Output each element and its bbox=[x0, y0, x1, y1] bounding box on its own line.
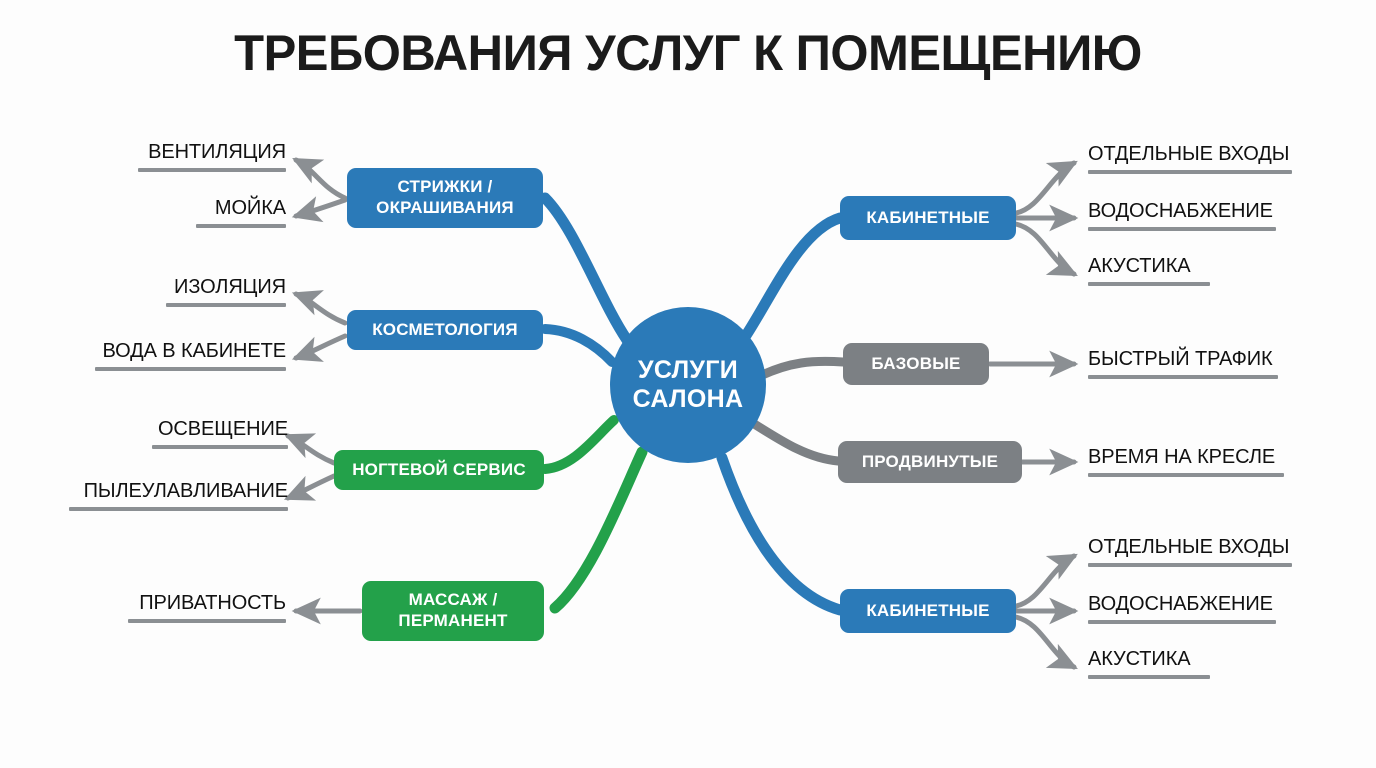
center-node-line2: САЛОНА bbox=[633, 385, 744, 415]
leaf-underline bbox=[95, 367, 286, 371]
leaf-label: ОСВЕЩЕНИЕ bbox=[152, 419, 288, 440]
leaf-underline bbox=[1088, 227, 1276, 231]
leaf-separate-entrances-top[interactable]: ОТДЕЛЬНЫЕ ВХОДЫ bbox=[1088, 144, 1292, 174]
leaf-underline bbox=[1088, 473, 1284, 477]
trunk-right-advanced bbox=[748, 420, 838, 461]
branch-node-massage[interactable]: МАССАЖ / ПЕРМАНЕНТ bbox=[362, 581, 544, 641]
leaf-washing[interactable]: МОЙКА bbox=[196, 198, 286, 228]
leaf-label: МОЙКА bbox=[196, 198, 286, 219]
leaf-fast-traffic[interactable]: БЫСТРЫЙ ТРАФИК bbox=[1088, 349, 1278, 379]
leaf-label: ИЗОЛЯЦИЯ bbox=[166, 277, 286, 298]
leaf-lighting[interactable]: ОСВЕЩЕНИЕ bbox=[152, 419, 288, 449]
trunk-right-basic bbox=[760, 361, 843, 376]
trunk-left-haircut bbox=[545, 198, 627, 340]
mindmap-canvas: ТРЕБОВАНИЯ УСЛУГ К ПОМЕЩЕНИЮ bbox=[0, 0, 1376, 768]
leaf-water-in-room[interactable]: ВОДА В КАБИНЕТЕ bbox=[95, 341, 286, 371]
leaf-label: ПРИВАТНОСТЬ bbox=[128, 593, 286, 614]
branch-node-nails[interactable]: НОГТЕВОЙ СЕРВИС bbox=[334, 450, 544, 490]
leaf-water-supply-bottom[interactable]: ВОДОСНАБЖЕНИЕ bbox=[1088, 594, 1276, 624]
branch-node-cabinet-bottom[interactable]: КАБИНЕТНЫЕ bbox=[840, 589, 1016, 633]
trunk-right-cabinet-bottom bbox=[722, 458, 840, 610]
leaf-acoustics-top[interactable]: АКУСТИКА bbox=[1088, 256, 1210, 286]
leaf-underline bbox=[1088, 170, 1292, 174]
branch-node-cosmetology[interactable]: КОСМЕТОЛОГИЯ bbox=[347, 310, 543, 350]
leaf-dust-collection[interactable]: ПЫЛЕУЛАВЛИВАНИЕ bbox=[69, 481, 288, 511]
leaf-label: ВОДОСНАБЖЕНИЕ bbox=[1088, 594, 1276, 615]
leaf-label: БЫСТРЫЙ ТРАФИК bbox=[1088, 349, 1278, 370]
trunk-right-cabinet-top bbox=[745, 218, 840, 337]
leaf-arrows-haircut bbox=[296, 160, 345, 216]
branch-node-haircut[interactable]: СТРИЖКИ / ОКРАШИВАНИЯ bbox=[347, 168, 543, 228]
leaf-arrows-nails bbox=[288, 436, 334, 498]
branch-node-basic[interactable]: БАЗОВЫЕ bbox=[843, 343, 989, 385]
leaf-label: ОТДЕЛЬНЫЕ ВХОДЫ bbox=[1088, 537, 1292, 558]
leaf-arrows-cabinet-bottom bbox=[1016, 556, 1074, 667]
leaf-underline bbox=[1088, 620, 1276, 624]
leaf-privacy[interactable]: ПРИВАТНОСТЬ bbox=[128, 593, 286, 623]
leaf-underline bbox=[196, 224, 286, 228]
leaf-label: ВРЕМЯ НА КРЕСЛЕ bbox=[1088, 447, 1284, 468]
branch-node-advanced[interactable]: ПРОДВИНУТЫЕ bbox=[838, 441, 1022, 483]
leaf-label: ВОДОСНАБЖЕНИЕ bbox=[1088, 201, 1276, 222]
leaf-water-supply-top[interactable]: ВОДОСНАБЖЕНИЕ bbox=[1088, 201, 1276, 231]
leaf-isolation[interactable]: ИЗОЛЯЦИЯ bbox=[166, 277, 286, 307]
leaf-underline bbox=[166, 303, 286, 307]
leaf-ventilation[interactable]: ВЕНТИЛЯЦИЯ bbox=[138, 142, 286, 172]
leaf-underline bbox=[128, 619, 286, 623]
trunk-left-cosmetology bbox=[545, 329, 612, 362]
leaf-underline bbox=[152, 445, 288, 449]
leaf-label: АКУСТИКА bbox=[1088, 256, 1210, 277]
leaf-label: АКУСТИКА bbox=[1088, 649, 1210, 670]
leaf-arrows-cosmetology bbox=[296, 294, 345, 358]
center-node-line1: УСЛУГИ bbox=[638, 356, 738, 386]
leaf-label: ПЫЛЕУЛАВЛИВАНИЕ bbox=[69, 481, 288, 502]
leaf-underline bbox=[1088, 282, 1210, 286]
leaf-label: ВОДА В КАБИНЕТЕ bbox=[95, 341, 286, 362]
leaf-label: ОТДЕЛЬНЫЕ ВХОДЫ bbox=[1088, 144, 1292, 165]
leaf-arrows-cabinet-top bbox=[1016, 163, 1074, 274]
leaf-underline bbox=[1088, 675, 1210, 679]
branch-node-cabinet-top[interactable]: КАБИНЕТНЫЕ bbox=[840, 196, 1016, 240]
leaf-acoustics-bottom[interactable]: АКУСТИКА bbox=[1088, 649, 1210, 679]
leaf-separate-entrances-bottom[interactable]: ОТДЕЛЬНЫЕ ВХОДЫ bbox=[1088, 537, 1292, 567]
trunk-left-nails bbox=[545, 420, 614, 469]
leaf-underline bbox=[1088, 563, 1292, 567]
page-title: ТРЕБОВАНИЯ УСЛУГ К ПОМЕЩЕНИЮ bbox=[14, 24, 1362, 82]
leaf-label: ВЕНТИЛЯЦИЯ bbox=[138, 142, 286, 163]
leaf-underline bbox=[1088, 375, 1278, 379]
trunk-left-massage bbox=[555, 452, 642, 608]
leaf-underline bbox=[138, 168, 286, 172]
center-node[interactable]: УСЛУГИ САЛОНА bbox=[610, 307, 766, 463]
leaf-time-in-chair[interactable]: ВРЕМЯ НА КРЕСЛЕ bbox=[1088, 447, 1284, 477]
leaf-underline bbox=[69, 507, 288, 511]
